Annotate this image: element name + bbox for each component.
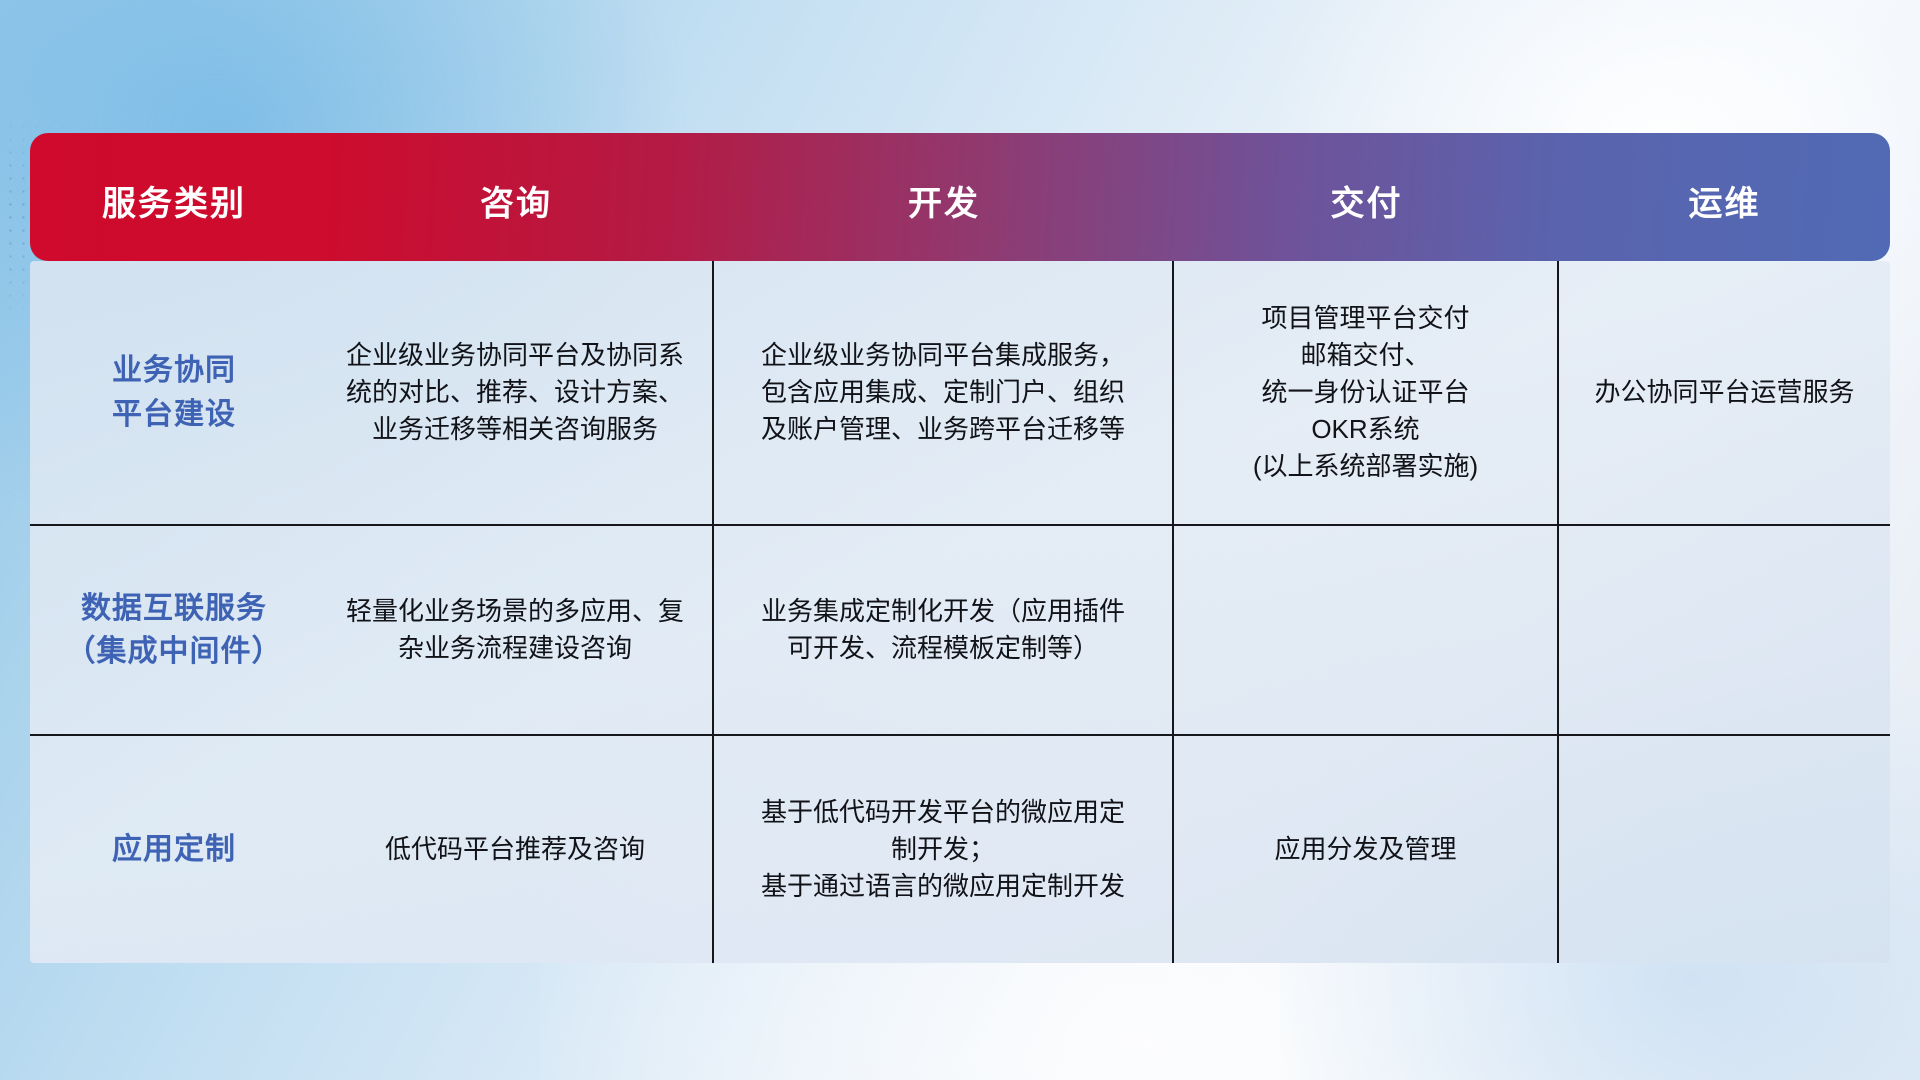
column-header-consulting-label: 咨询 <box>480 176 552 225</box>
column-header-category: 服务类别 <box>30 133 318 261</box>
column-header-category-label: 服务类别 <box>102 176 246 225</box>
column-header-development: 开发 <box>714 133 1174 261</box>
table-row: 应用定制 低代码平台推荐及咨询 基于低代码开发平台的微应用定 制开发； 基于通过… <box>30 736 1890 963</box>
service-matrix-table: 服务类别 咨询 开发 交付 运维 业务协同 平台建设 企业级业务协同平台及协同系… <box>30 133 1890 963</box>
cell-development-row3: 基于低代码开发平台的微应用定 制开发； 基于通过语言的微应用定制开发 <box>714 736 1174 963</box>
table-row: 数据互联服务 （集成中间件） 轻量化业务场景的多应用、复 杂业务流程建设咨询 业… <box>30 526 1890 736</box>
cell-operations-row2 <box>1559 526 1890 736</box>
table-header-bar: 服务类别 咨询 开发 交付 运维 <box>30 133 1890 261</box>
cell-development-row2: 业务集成定制化开发（应用插件 可开发、流程模板定制等） <box>714 526 1174 736</box>
cell-consulting-row1: 企业级业务协同平台及协同系 统的对比、推荐、设计方案、 业务迁移等相关咨询服务 <box>318 261 714 526</box>
row-label-data-interconnect: 数据互联服务 （集成中间件） <box>30 526 318 736</box>
cell-consulting-row2: 轻量化业务场景的多应用、复 杂业务流程建设咨询 <box>318 526 714 736</box>
cell-consulting-row3: 低代码平台推荐及咨询 <box>318 736 714 963</box>
table-row: 业务协同 平台建设 企业级业务协同平台及协同系 统的对比、推荐、设计方案、 业务… <box>30 261 1890 526</box>
cell-delivery-row1: 项目管理平台交付 邮箱交付、 统一身份认证平台 OKR系统 (以上系统部署实施) <box>1174 261 1559 526</box>
column-header-operations-label: 运维 <box>1689 176 1761 225</box>
cell-operations-row1: 办公协同平台运营服务 <box>1559 261 1890 526</box>
column-header-development-label: 开发 <box>908 176 980 225</box>
cell-development-row1: 企业级业务协同平台集成服务， 包含应用集成、定制门户、组织 及账户管理、业务跨平… <box>714 261 1174 526</box>
column-header-delivery-label: 交付 <box>1331 176 1403 225</box>
table-header-row: 服务类别 咨询 开发 交付 运维 <box>30 133 1890 261</box>
table-body-grid: 业务协同 平台建设 企业级业务协同平台及协同系 统的对比、推荐、设计方案、 业务… <box>30 261 1890 963</box>
column-header-operations: 运维 <box>1559 133 1890 261</box>
column-header-delivery: 交付 <box>1174 133 1559 261</box>
row-label-business-collaboration: 业务协同 平台建设 <box>30 261 318 526</box>
row-label-application-customization: 应用定制 <box>30 736 318 963</box>
cell-delivery-row2 <box>1174 526 1559 736</box>
column-header-consulting: 咨询 <box>318 133 714 261</box>
cell-operations-row3 <box>1559 736 1890 963</box>
cell-delivery-row3: 应用分发及管理 <box>1174 736 1559 963</box>
